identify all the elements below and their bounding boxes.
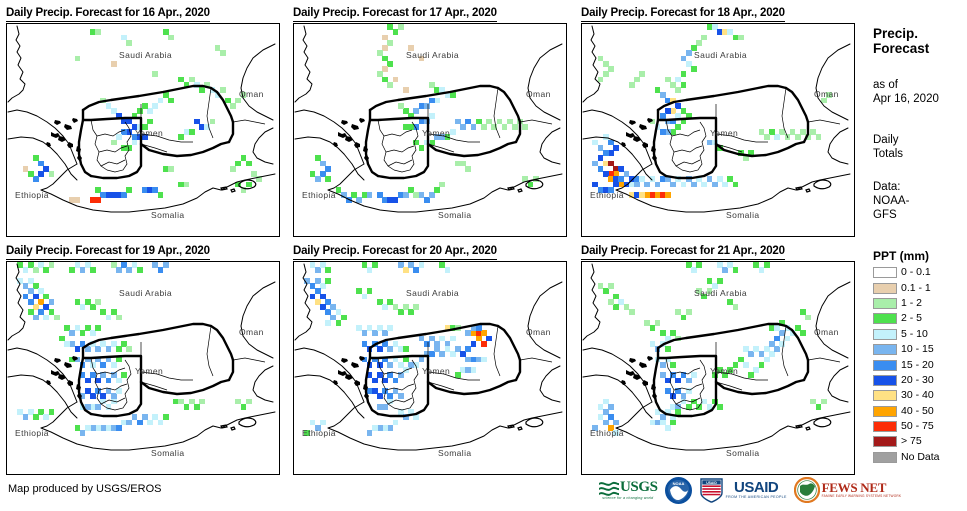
asof-line2: Apr 16, 2020	[873, 92, 939, 106]
legend-swatch	[873, 375, 897, 386]
usgs-logo[interactable]: USGS science for a changing world	[598, 475, 658, 505]
usaid-tagline: FROM THE AMERICAN PEOPLE	[726, 496, 787, 500]
panel-title-4: Daily Precip. Forecast for 20 Apr., 2020	[293, 245, 497, 260]
legend-item: 2 - 5	[871, 311, 967, 326]
map-panel-4: Daily Precip. Forecast for 20 Apr., 2020	[293, 241, 497, 260]
legend-label: 30 - 40	[901, 390, 934, 401]
map-canvas-1[interactable]: Saudi ArabiaOmanYemenEthiopiaSomalia	[293, 23, 567, 237]
map-panel-0: Daily Precip. Forecast for 16 Apr., 2020	[6, 3, 210, 22]
map-panel-1: Daily Precip. Forecast for 17 Apr., 2020	[293, 3, 497, 22]
legend-label: 20 - 30	[901, 375, 934, 386]
legend-swatch	[873, 267, 897, 278]
legend-label: 15 - 20	[901, 360, 934, 371]
datasource-line1: Data:	[873, 180, 909, 194]
legend-item: 10 - 15	[871, 342, 967, 357]
country-label: Somalia	[438, 210, 472, 220]
fewsnet-globe-icon	[794, 477, 820, 503]
country-label: Ethiopia	[590, 190, 624, 200]
panel-title-5: Daily Precip. Forecast for 21 Apr., 2020	[581, 245, 785, 260]
legend-swatch	[873, 452, 897, 463]
country-label: Saudi Arabia	[119, 50, 172, 60]
legend-label: 1 - 2	[901, 298, 922, 309]
country-label: Saudi Arabia	[694, 50, 747, 60]
country-label: Somalia	[726, 210, 760, 220]
agency-logos: USGS science for a changing world NOAA	[598, 474, 901, 506]
fewsnet-tagline: FAMINE EARLY WARNING SYSTEMS NETWORK	[822, 495, 902, 498]
asof-line1: as of	[873, 78, 939, 92]
panel-title-0: Daily Precip. Forecast for 16 Apr., 2020	[6, 7, 210, 22]
legend: PPT (mm) 0 - 0.10.1 - 11 - 22 - 55 - 101…	[871, 250, 967, 465]
country-label: Oman	[239, 327, 264, 337]
svg-text:USAID: USAID	[706, 481, 717, 485]
map-panel-2: Daily Precip. Forecast for 18 Apr., 2020	[581, 3, 785, 22]
usaid-shield-icon: USAID	[699, 477, 724, 503]
legend-swatch	[873, 390, 897, 401]
country-label: Yemen	[135, 366, 163, 376]
country-label: Yemen	[710, 128, 738, 138]
legend-swatch	[873, 360, 897, 371]
country-label: Somalia	[151, 448, 185, 458]
country-label: Ethiopia	[590, 428, 624, 438]
sidebar-title-line2: Forecast	[873, 41, 929, 56]
legend-item: 30 - 40	[871, 388, 967, 403]
fewsnet-wordmark: FEWS NET	[822, 481, 886, 494]
country-label: Yemen	[710, 366, 738, 376]
fewsnet-logo[interactable]: FEWS NET FAMINE EARLY WARNING SYSTEMS NE…	[794, 475, 902, 505]
country-label: Yemen	[422, 128, 450, 138]
country-label: Ethiopia	[302, 428, 336, 438]
country-label: Saudi Arabia	[694, 288, 747, 298]
country-label: Somalia	[151, 210, 185, 220]
datasource-line3: GFS	[873, 208, 909, 222]
legend-label: 5 - 10	[901, 329, 928, 340]
legend-label: 0 - 0.1	[901, 267, 931, 278]
map-canvas-5[interactable]: Saudi ArabiaOmanYemenEthiopiaSomalia	[581, 261, 855, 475]
sidebar-asof: as of Apr 16, 2020	[873, 78, 939, 106]
legend-label: 0.1 - 1	[901, 283, 931, 294]
legend-item: 15 - 20	[871, 357, 967, 372]
datasource-line2: NOAA-	[873, 194, 909, 208]
legend-item: 20 - 30	[871, 373, 967, 388]
sidebar-title-line1: Precip.	[873, 26, 929, 41]
sidebar-totals: Daily Totals	[873, 133, 903, 161]
legend-item: 40 - 50	[871, 404, 967, 419]
sidebar-datasource: Data: NOAA- GFS	[873, 180, 909, 222]
country-label: Oman	[526, 89, 551, 99]
noaa-wordmark: NOAA	[672, 481, 684, 486]
legend-swatch	[873, 406, 897, 417]
legend-swatch	[873, 344, 897, 355]
legend-item: 1 - 2	[871, 296, 967, 311]
map-canvas-4[interactable]: Saudi ArabiaOmanYemenEthiopiaSomalia	[293, 261, 567, 475]
country-label: Ethiopia	[15, 428, 49, 438]
noaa-seal-icon: NOAA	[665, 477, 692, 504]
map-canvas-3[interactable]: Saudi ArabiaOmanYemenEthiopiaSomalia	[6, 261, 280, 475]
map-credit: Map produced by USGS/EROS	[8, 483, 161, 495]
country-label: Somalia	[726, 448, 760, 458]
legend-item: No Data	[871, 450, 967, 465]
legend-item: 5 - 10	[871, 327, 967, 342]
legend-swatch	[873, 436, 897, 447]
panel-title-3: Daily Precip. Forecast for 19 Apr., 2020	[6, 245, 210, 260]
usaid-wordmark: USAID	[734, 480, 778, 495]
country-label: Saudi Arabia	[406, 288, 459, 298]
country-label: Yemen	[422, 366, 450, 376]
legend-label: 10 - 15	[901, 344, 934, 355]
legend-swatch	[873, 283, 897, 294]
legend-swatch	[873, 313, 897, 324]
sidebar-title: Precip. Forecast	[873, 26, 929, 56]
country-label: Saudi Arabia	[119, 288, 172, 298]
legend-label: 2 - 5	[901, 313, 922, 324]
precip-forecast-sheet: Daily Precip. Forecast for 16 Apr., 2020	[0, 0, 967, 511]
map-panel-5: Daily Precip. Forecast for 21 Apr., 2020	[581, 241, 785, 260]
panel-title-2: Daily Precip. Forecast for 18 Apr., 2020	[581, 7, 785, 22]
legend-item: 0.1 - 1	[871, 280, 967, 295]
noaa-logo[interactable]: NOAA	[665, 475, 692, 505]
totals-line2: Totals	[873, 147, 903, 161]
usgs-wave-icon	[598, 480, 620, 496]
country-label: Saudi Arabia	[406, 50, 459, 60]
legend-title: PPT (mm)	[873, 250, 967, 263]
legend-rows: 0 - 0.10.1 - 11 - 22 - 55 - 1010 - 1515 …	[871, 265, 967, 465]
country-label: Oman	[814, 89, 839, 99]
country-label: Ethiopia	[302, 190, 336, 200]
map-panel-3: Daily Precip. Forecast for 19 Apr., 2020	[6, 241, 210, 260]
map-canvas-0[interactable]: Saudi ArabiaOmanYemenEthiopiaSomalia	[6, 23, 280, 237]
legend-swatch	[873, 329, 897, 340]
info-sidebar: Precip. Forecast as of Apr 16, 2020 Dail…	[869, 0, 967, 511]
legend-label: No Data	[901, 452, 940, 463]
country-label: Oman	[814, 327, 839, 337]
legend-item: 50 - 75	[871, 419, 967, 434]
legend-swatch	[873, 298, 897, 309]
country-label: Somalia	[438, 448, 472, 458]
map-canvas-2[interactable]: Saudi ArabiaOmanYemenEthiopiaSomalia	[581, 23, 855, 237]
legend-label: 40 - 50	[901, 406, 934, 417]
totals-line1: Daily	[873, 133, 903, 147]
usgs-wordmark: USGS	[620, 480, 658, 495]
legend-label: 50 - 75	[901, 421, 934, 432]
legend-label: > 75	[901, 436, 922, 447]
usgs-tagline: science for a changing world	[602, 497, 653, 501]
country-label: Yemen	[135, 128, 163, 138]
country-label: Ethiopia	[15, 190, 49, 200]
legend-swatch	[873, 421, 897, 432]
legend-item: 0 - 0.1	[871, 265, 967, 280]
country-label: Oman	[526, 327, 551, 337]
usaid-logo[interactable]: USAID USAID FROM THE AMERICAN PEOPLE	[699, 475, 787, 505]
legend-item: > 75	[871, 434, 967, 449]
country-label: Oman	[239, 89, 264, 99]
panel-title-1: Daily Precip. Forecast for 17 Apr., 2020	[293, 7, 497, 22]
